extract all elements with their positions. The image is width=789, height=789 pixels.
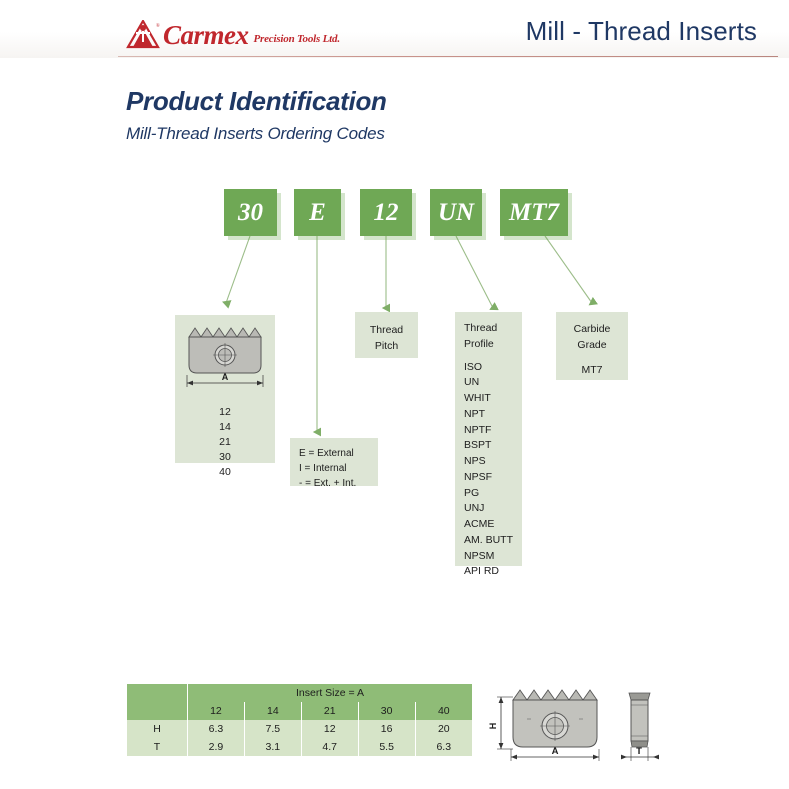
page-title: Product Identification	[126, 86, 387, 117]
spacer	[464, 353, 522, 360]
table-cell: 20	[415, 720, 472, 738]
table-col-header: 30	[358, 702, 415, 720]
list-item: UN	[464, 375, 522, 391]
document-title: Mill - Thread Inserts	[526, 16, 757, 47]
thread-pitch-title-2: Pitch	[364, 338, 409, 354]
dimension-label-a: A	[552, 746, 559, 757]
list-item: WHIT	[464, 391, 522, 407]
code-box-direction[interactable]: E	[294, 189, 341, 236]
table-span-header: Insert Size = A	[188, 684, 473, 702]
insert-size-list: 12 14 21 30 40	[175, 405, 275, 480]
list-item: BSPT	[464, 438, 522, 454]
spec-table-wrapper: Insert Size = A 12 14 21 30 40 H 6.3 7.5…	[127, 684, 472, 758]
table-row: T 2.9 3.1 4.7 5.5 6.3	[127, 738, 472, 756]
table-cell: 4.7	[301, 738, 358, 756]
brand-name: Carmex	[163, 22, 249, 49]
technical-drawings: H A	[487, 681, 672, 767]
table-row-label: H	[127, 720, 188, 738]
insert-size-panel: A 12 14 21 30 40	[175, 315, 275, 463]
thread-profile-panel: Thread Profile ISO UN WHIT NPT NPTF BSPT…	[455, 312, 522, 566]
table-cell: 2.9	[188, 738, 245, 756]
thread-profile-title-2: Profile	[464, 337, 522, 353]
front-view-drawing	[513, 690, 597, 747]
table-cell: 5.5	[358, 738, 415, 756]
table-row-span-header: Insert Size = A	[127, 684, 472, 702]
list-item: API RD	[464, 564, 522, 580]
dimension-label-t: T	[636, 746, 642, 757]
list-item: NPTF	[464, 423, 522, 439]
list-item: 30	[175, 450, 275, 465]
list-item: 40	[175, 465, 275, 480]
list-item: 21	[175, 435, 275, 450]
carbide-grade-value: MT7	[565, 363, 619, 379]
list-item: NPSF	[464, 470, 522, 486]
list-item: AM. BUTT	[464, 533, 522, 549]
table-cell: 3.1	[244, 738, 301, 756]
carbide-grade-panel: Carbide Grade MT7	[556, 312, 628, 380]
list-item: NPSM	[464, 549, 522, 565]
header-divider	[118, 56, 778, 57]
connector-lines	[0, 0, 789, 789]
table-cell: 6.3	[415, 738, 472, 756]
thread-profile-title-1: Thread	[464, 321, 522, 337]
side-view-drawing	[629, 693, 650, 747]
svg-text:A: A	[222, 372, 229, 382]
table-row-columns: 12 14 21 30 40	[127, 702, 472, 720]
carmex-triangle-emblem-icon: ®	[126, 20, 160, 50]
table-cell: 7.5	[244, 720, 301, 738]
direction-external: E = External	[299, 446, 369, 461]
direction-panel: E = External I = Internal - = Ext. + Int…	[290, 438, 378, 486]
table-cell: 16	[358, 720, 415, 738]
list-item: ISO	[464, 360, 522, 376]
list-item: 14	[175, 420, 275, 435]
list-item: 12	[175, 405, 275, 420]
table-col-header: 12	[188, 702, 245, 720]
code-box-insert-size[interactable]: 30	[224, 189, 277, 236]
svg-text:®: ®	[156, 23, 160, 29]
table-corner-cell	[127, 684, 188, 702]
spec-table: Insert Size = A 12 14 21 30 40 H 6.3 7.5…	[127, 684, 472, 756]
direction-internal: I = Internal	[299, 461, 369, 476]
table-col-header: 14	[244, 702, 301, 720]
height-dimension: H	[488, 697, 513, 749]
spacer	[565, 354, 619, 363]
insert-front-view-drawing: A	[175, 315, 275, 403]
table-col-header: 21	[301, 702, 358, 720]
brand-tagline: Precision Tools Ltd.	[254, 33, 340, 45]
table-corner-cell-2	[127, 702, 188, 720]
table-cell: 12	[301, 720, 358, 738]
table-row-label: T	[127, 738, 188, 756]
page-header: ® Carmex Precision Tools Ltd. Mill - Thr…	[0, 0, 789, 58]
code-box-carbide-grade[interactable]: MT7	[500, 189, 568, 236]
code-box-thread-profile[interactable]: UN	[430, 189, 482, 236]
page-subtitle: Mill-Thread Inserts Ordering Codes	[126, 124, 385, 144]
list-item: NPT	[464, 407, 522, 423]
width-dimension: A	[511, 746, 599, 761]
code-box-thread-pitch[interactable]: 12	[360, 189, 412, 236]
carmex-logo: ® Carmex Precision Tools Ltd.	[126, 18, 340, 52]
carbide-grade-title-2: Grade	[565, 338, 619, 354]
thread-pitch-title-1: Thread	[364, 322, 409, 338]
list-item: NPS	[464, 454, 522, 470]
list-item: UNJ	[464, 501, 522, 517]
thickness-dimension: T	[621, 746, 659, 761]
list-item: PG	[464, 486, 522, 502]
carbide-grade-title-1: Carbide	[565, 322, 619, 338]
list-item: ACME	[464, 517, 522, 533]
table-cell: 6.3	[188, 720, 245, 738]
table-row: H 6.3 7.5 12 16 20	[127, 720, 472, 738]
dimension-label-h: H	[488, 723, 498, 730]
direction-both: - = Ext. + Int.	[299, 476, 369, 491]
table-col-header: 40	[415, 702, 472, 720]
thread-pitch-panel: Thread Pitch	[355, 312, 418, 358]
page-canvas: ® Carmex Precision Tools Ltd. Mill - Thr…	[0, 0, 789, 789]
